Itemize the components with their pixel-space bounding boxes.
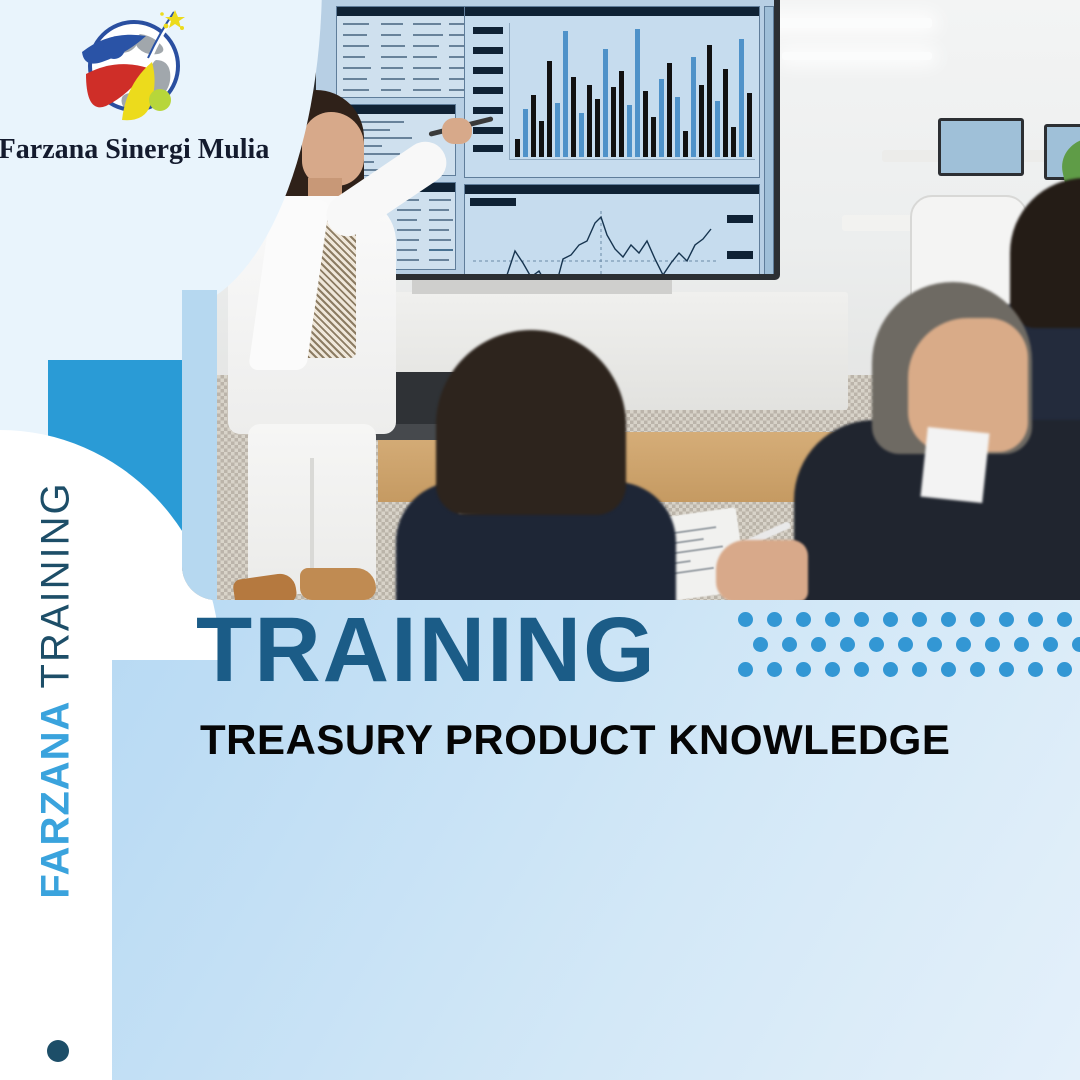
- presenter-shoe: [232, 572, 298, 600]
- grid-dot: [912, 612, 927, 627]
- vertical-brand-rail: FARZANA TRAINING: [0, 470, 112, 1080]
- grid-dot: [985, 637, 1000, 652]
- bullet-dot-icon: [47, 1040, 69, 1062]
- grid-dot: [970, 662, 985, 677]
- ceiling-light: [782, 52, 932, 60]
- grid-dot: [1028, 662, 1043, 677]
- grid-dot: [767, 662, 782, 677]
- poster-canvas: FARZANA TRAINING: [0, 0, 1080, 1080]
- scrollbar[interactable]: [764, 6, 774, 274]
- grid-dot: [912, 662, 927, 677]
- grid-dot: [738, 662, 753, 677]
- price-line-chart: [473, 211, 717, 274]
- attendee-front-head: [436, 330, 626, 515]
- grid-dot: [825, 662, 840, 677]
- dot-grid-pattern: [738, 612, 1080, 676]
- training-session-photo: [182, 0, 1080, 600]
- grid-dot: [840, 637, 855, 652]
- grid-dot: [854, 662, 869, 677]
- grid-dot: [738, 612, 753, 627]
- rail-label-farzana: FARZANA: [34, 701, 78, 899]
- panel-header: [465, 185, 759, 194]
- monitor-stand: [412, 280, 672, 294]
- photo-scene: [182, 0, 1080, 600]
- photo-left-mask-lower: [182, 290, 217, 600]
- page-title: TRAINING: [196, 604, 657, 696]
- desk-monitor: [938, 118, 1024, 176]
- grid-dot: [767, 612, 782, 627]
- grid-dot: [883, 612, 898, 627]
- panel-header: [337, 7, 483, 16]
- brand-logo-block: Farzana Sinergi Mulia: [0, 8, 268, 178]
- grid-dot: [796, 662, 811, 677]
- grid-dot: [811, 637, 826, 652]
- grid-dot: [1057, 662, 1072, 677]
- panel-header: [465, 7, 759, 16]
- grid-dot: [999, 662, 1014, 677]
- line-chart-panel: [464, 184, 760, 274]
- grid-dot: [854, 612, 869, 627]
- grid-dot: [883, 662, 898, 677]
- page-subtitle: TREASURY PRODUCT KNOWLEDGE: [200, 719, 950, 761]
- grid-dot: [941, 662, 956, 677]
- grid-dot: [825, 612, 840, 627]
- grid-dot: [1028, 612, 1043, 627]
- grid-dot: [941, 612, 956, 627]
- grid-dot: [898, 637, 913, 652]
- grid-dot: [869, 637, 884, 652]
- presenter-hand: [442, 118, 472, 144]
- bar-chart-panel: [464, 6, 760, 178]
- grid-dot: [927, 637, 942, 652]
- presenter-shoe: [300, 568, 376, 600]
- grid-dot: [1043, 637, 1058, 652]
- grid-dot: [1072, 637, 1080, 652]
- rail-label-training: TRAINING: [34, 481, 78, 688]
- grid-dot: [753, 637, 768, 652]
- grid-dot: [782, 637, 797, 652]
- globe-people-star-logo: [70, 8, 198, 130]
- grid-dot: [1057, 612, 1072, 627]
- attendee-hand: [716, 540, 808, 600]
- rail-text-wrapper: FARZANA TRAINING: [36, 481, 76, 898]
- grid-dot: [999, 612, 1014, 627]
- grid-dot: [970, 612, 985, 627]
- grid-dot: [1014, 637, 1029, 652]
- grid-dot: [956, 637, 971, 652]
- grid-dot: [796, 612, 811, 627]
- attendee-right-shirt: [921, 427, 990, 503]
- presenter-face: [302, 112, 364, 186]
- company-name: Farzana Sinergi Mulia: [0, 134, 269, 166]
